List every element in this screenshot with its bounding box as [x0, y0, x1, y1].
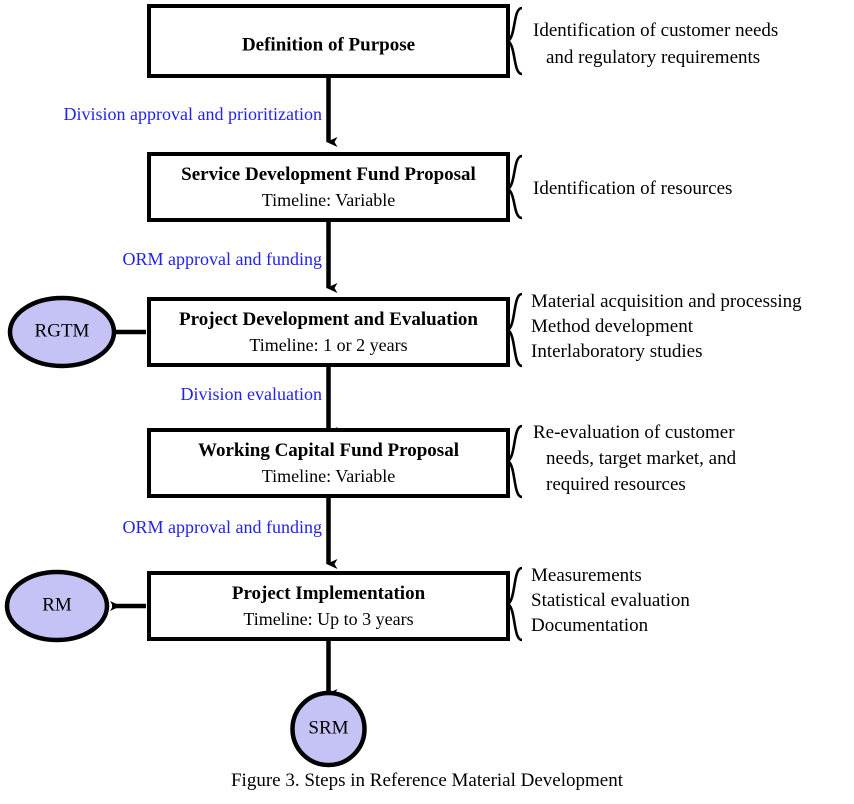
annotation-line: Material acquisition and processing: [531, 291, 802, 312]
annotation-line: Interlaboratory studies: [531, 341, 702, 362]
brace-service-fund: [508, 156, 522, 218]
annotation-project-development: Material acquisition and processing Meth…: [531, 291, 802, 362]
brace-project-implementation: [508, 568, 522, 640]
annotation-line: Statistical evaluation: [531, 590, 690, 611]
box-title: Service Development Fund Proposal: [181, 164, 476, 185]
node-label: RGTM: [35, 320, 90, 341]
box-project-implementation[interactable]: Project Implementation Timeline: Up to 3…: [149, 573, 508, 639]
box-working-capital-fund-proposal[interactable]: Working Capital Fund Proposal Timeline: …: [149, 430, 508, 496]
figure-canvas: Definition of Purpose Identification of …: [0, 0, 854, 804]
annotation-definition: Identification of customer needs and reg…: [533, 20, 778, 68]
annotation-line: needs, target market, and: [546, 448, 737, 469]
node-label: SRM: [308, 717, 348, 738]
box-timeline: Timeline: Variable: [262, 190, 396, 210]
edge-label-orm-approval-1: ORM approval and funding: [123, 249, 322, 269]
node-rm[interactable]: RM: [7, 572, 107, 640]
box-timeline: Timeline: 1 or 2 years: [249, 335, 407, 355]
edge-label-division-approval: Division approval and prioritization: [64, 104, 322, 124]
edge-label-division-evaluation: Division evaluation: [181, 384, 322, 404]
annotation-line: Method development: [531, 316, 694, 337]
annotation-line: Documentation: [531, 615, 649, 636]
annotation-line: required resources: [546, 474, 686, 495]
flowchart-svg: Definition of Purpose Identification of …: [0, 0, 854, 804]
annotation-project-implementation: Measurements Statistical evaluation Docu…: [531, 565, 690, 636]
brace-project-development: [508, 294, 522, 366]
annotation-line: Identification of customer needs: [533, 20, 778, 41]
box-title: Project Development and Evaluation: [179, 309, 478, 330]
box-title: Working Capital Fund Proposal: [198, 440, 459, 461]
box-timeline: Timeline: Up to 3 years: [243, 609, 413, 629]
annotation-line: Re-evaluation of customer: [533, 422, 735, 443]
box-title: Definition of Purpose: [242, 34, 415, 55]
node-rgtm[interactable]: RGTM: [10, 298, 114, 366]
box-title: Project Implementation: [232, 583, 426, 604]
node-label: RM: [42, 594, 72, 615]
annotation-line: and regulatory requirements: [546, 47, 760, 68]
annotation-working-capital: Re-evaluation of customer needs, target …: [533, 422, 737, 495]
brace-definition: [508, 8, 522, 74]
box-service-development-fund-proposal[interactable]: Service Development Fund Proposal Timeli…: [149, 154, 508, 220]
brace-working-capital: [508, 426, 522, 497]
annotation-service-fund: Identification of resources: [533, 178, 732, 199]
annotation-line: Measurements: [531, 565, 642, 586]
figure-caption: Figure 3. Steps in Reference Material De…: [231, 770, 624, 791]
box-project-development-and-evaluation[interactable]: Project Development and Evaluation Timel…: [149, 299, 508, 365]
box-definition-of-purpose[interactable]: Definition of Purpose: [149, 6, 508, 76]
node-srm[interactable]: SRM: [293, 693, 365, 765]
box-timeline: Timeline: Variable: [262, 466, 396, 486]
edge-label-orm-approval-2: ORM approval and funding: [123, 517, 322, 537]
